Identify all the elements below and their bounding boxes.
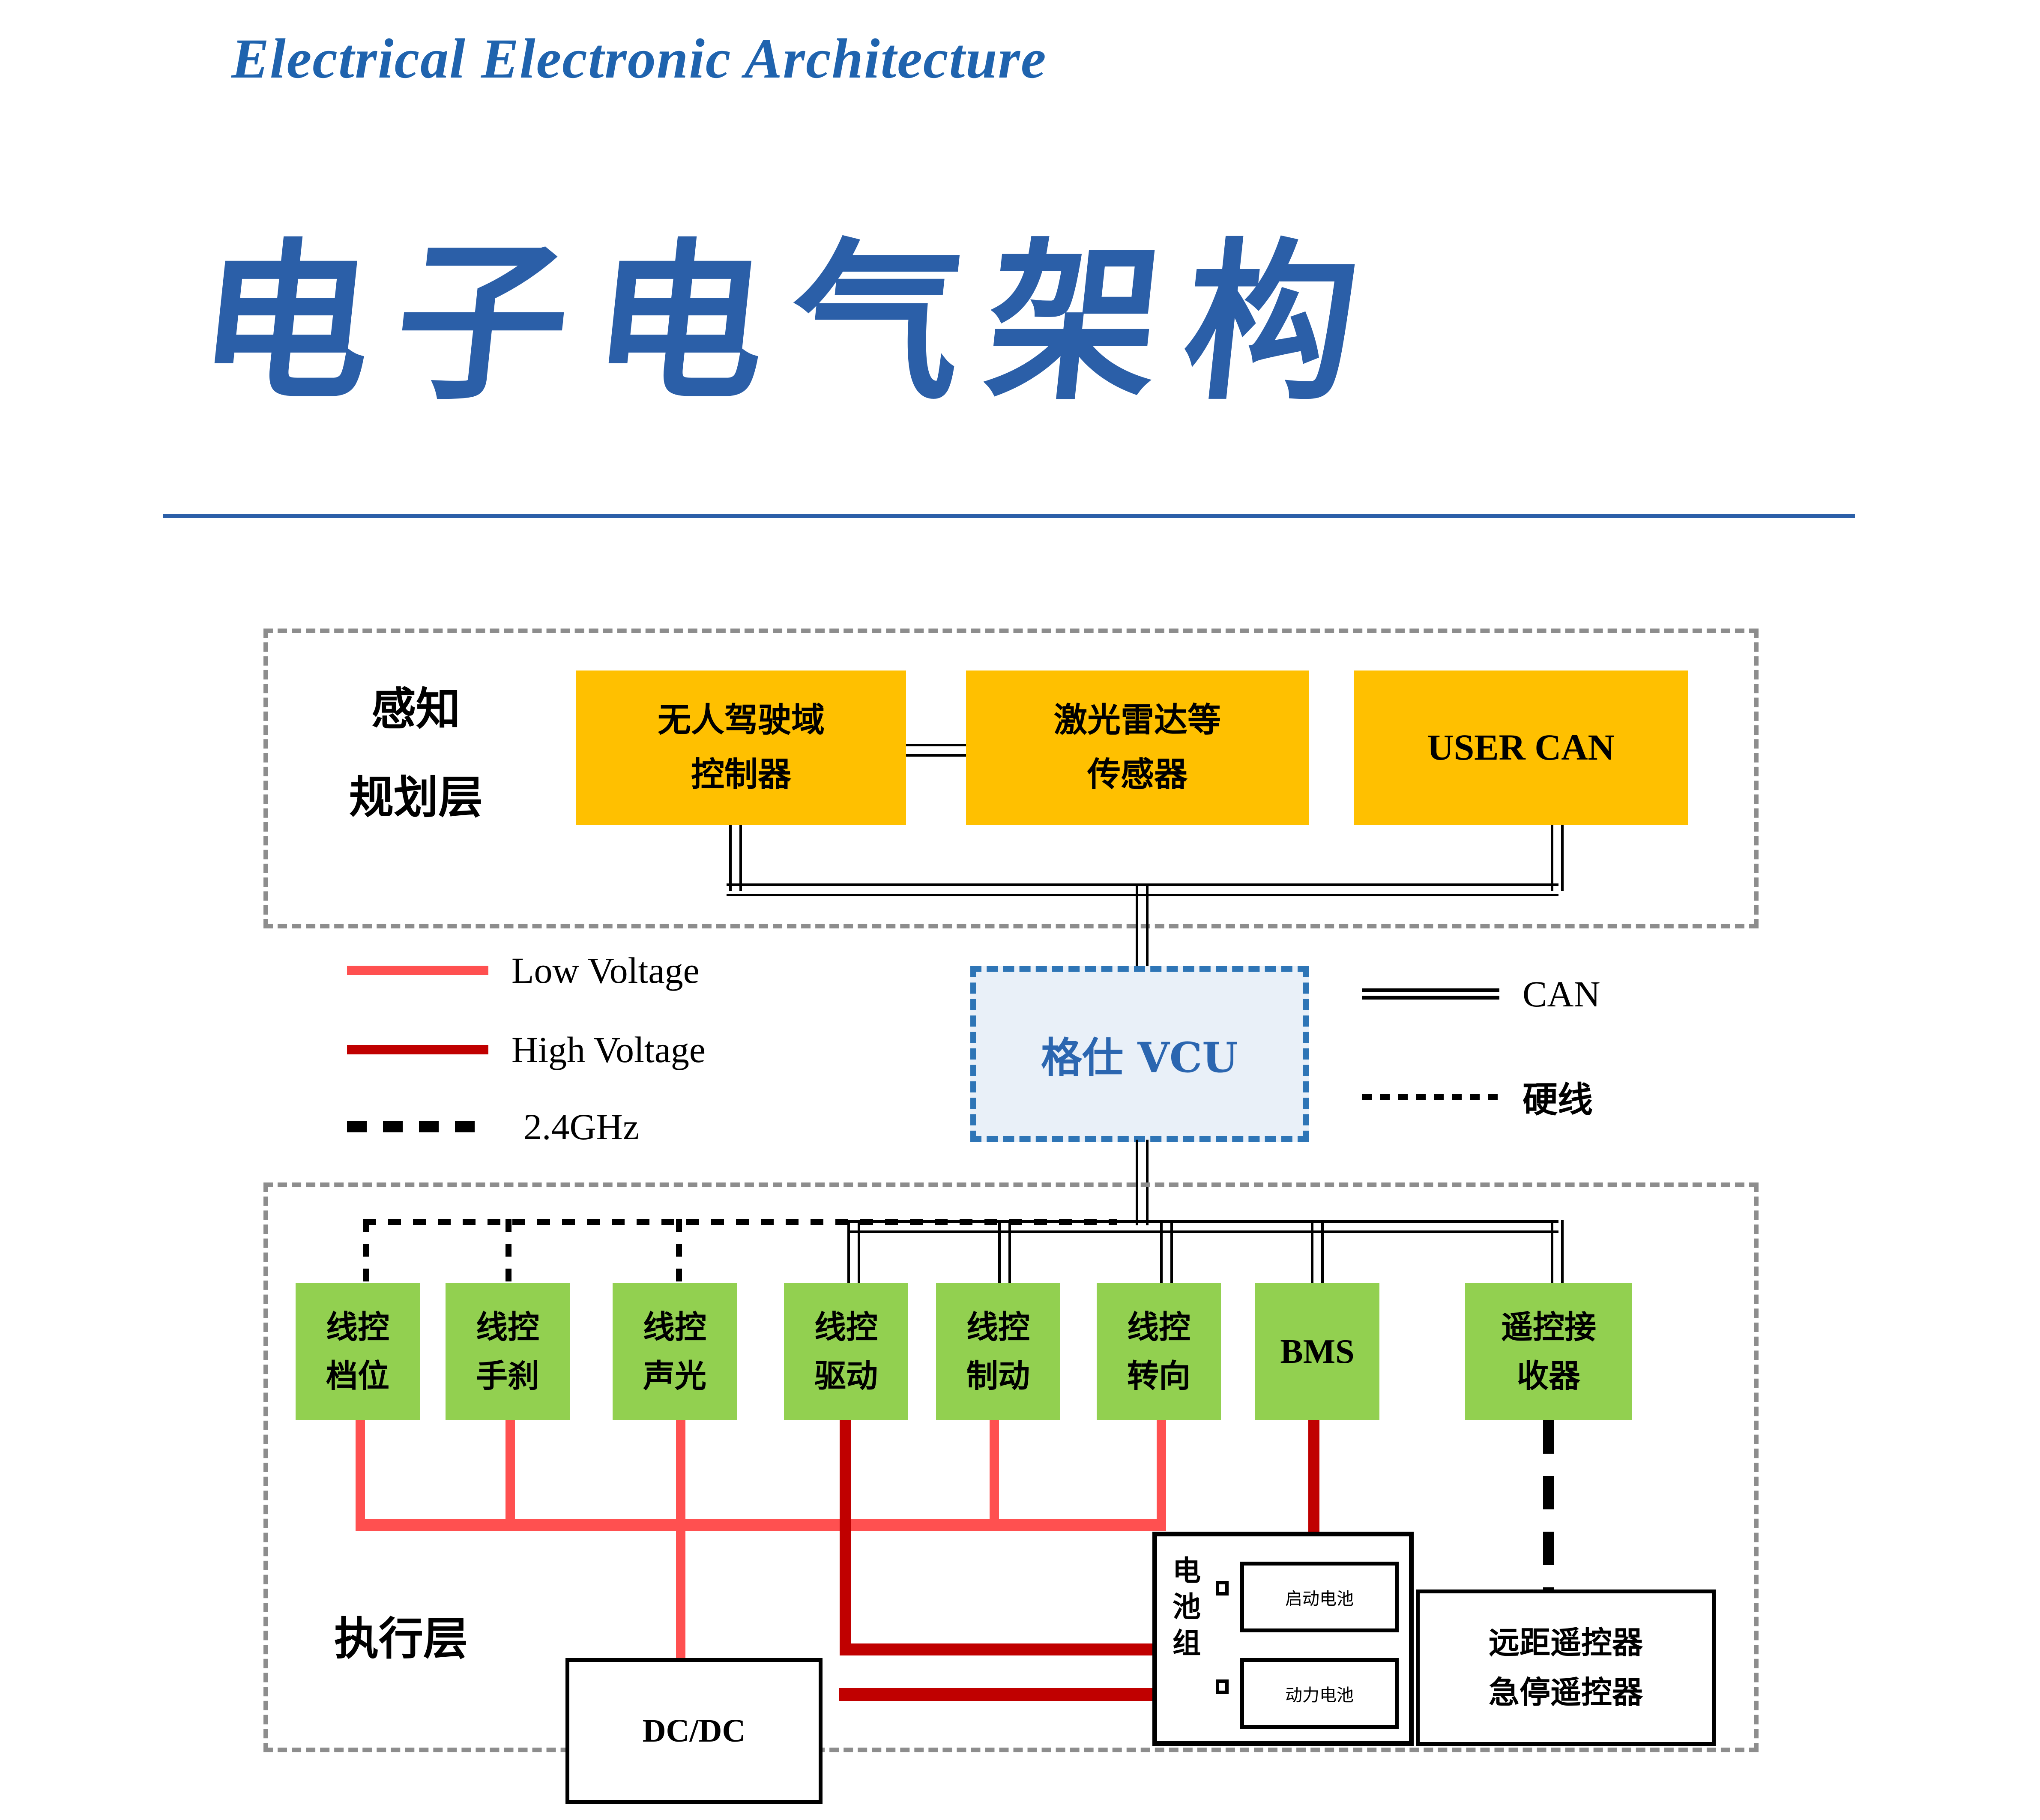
battery-terminal-icon-starter bbox=[1216, 1581, 1229, 1595]
hardwire-drop-handbrake bbox=[506, 1219, 511, 1285]
lv-drop-brake bbox=[990, 1420, 999, 1519]
node-wire-control-brake[interactable]: 线控 制动 bbox=[936, 1283, 1060, 1420]
steer-label-line1: 线控 bbox=[1127, 1307, 1190, 1348]
remote-label-line2: 急停遥控器 bbox=[1489, 1673, 1643, 1713]
adc-label-line2: 控制器 bbox=[691, 753, 791, 796]
legend-label-hardwire: 硬线 bbox=[1523, 1071, 1593, 1122]
rf-link-receiver-to-remote bbox=[1543, 1420, 1554, 1617]
lv-drop-handbrake bbox=[506, 1420, 515, 1519]
perception-caption-line2: 规划层 bbox=[349, 769, 483, 825]
lidar-label-line2: 传感器 bbox=[1087, 753, 1188, 796]
legend-label-can: CAN bbox=[1523, 973, 1600, 1015]
lv-bus bbox=[356, 1519, 1166, 1531]
node-remote-control-receiver[interactable]: 遥控接 收器 bbox=[1465, 1283, 1632, 1420]
node-wire-control-drive[interactable]: 线控 驱动 bbox=[784, 1283, 908, 1420]
can-drop-bms bbox=[1311, 1220, 1324, 1285]
rc-rx-label-line1: 遥控接 bbox=[1501, 1307, 1596, 1348]
node-user-can[interactable]: USER CAN bbox=[1354, 671, 1688, 825]
can-drop-usercan bbox=[1551, 825, 1564, 891]
brake-label-line1: 线控 bbox=[966, 1307, 1030, 1348]
perception-layer-caption: 感知 规划层 bbox=[349, 681, 483, 825]
legend-item-low-voltage: Low Voltage bbox=[347, 949, 700, 992]
can-drop-brake bbox=[998, 1220, 1011, 1285]
node-wire-control-light-sound[interactable]: 线控 声光 bbox=[613, 1283, 737, 1420]
legend-item-high-voltage: High Voltage bbox=[347, 1028, 706, 1071]
legend-item-24ghz: 2.4GHz bbox=[347, 1105, 639, 1148]
vcu-label: 格仕 VCU bbox=[1041, 1024, 1238, 1084]
perception-caption-line1: 感知 bbox=[349, 681, 483, 737]
can-drop-drive bbox=[847, 1220, 860, 1285]
can-drop-rc-rx bbox=[1551, 1220, 1564, 1285]
node-wire-control-steering[interactable]: 线控 转向 bbox=[1097, 1283, 1221, 1420]
gear-label-line1: 线控 bbox=[326, 1307, 389, 1348]
battery-cell-traction: 动力电池 bbox=[1240, 1658, 1399, 1729]
handbrake-label-line2: 手刹 bbox=[476, 1356, 539, 1397]
drive-label-line1: 线控 bbox=[814, 1307, 878, 1348]
traction-battery-label: 动力电池 bbox=[1285, 1681, 1354, 1706]
lv-feed-to-dcdc bbox=[676, 1519, 685, 1660]
legend-label-low-voltage: Low Voltage bbox=[511, 949, 700, 992]
node-remote-controllers[interactable]: 远距遥控器 急停遥控器 bbox=[1416, 1590, 1716, 1746]
can-trunk-to-vcu bbox=[1136, 883, 1149, 969]
battery-cell-starter: 启动电池 bbox=[1240, 1562, 1399, 1632]
hardwire-dashed-line-icon bbox=[1362, 1094, 1499, 1100]
legend-label-24ghz: 2.4GHz bbox=[523, 1105, 639, 1148]
page-title-english: Electrical Electronic Architecture bbox=[231, 26, 1047, 91]
hardwire-drop-gear bbox=[363, 1219, 369, 1285]
legend-item-hardwire: 硬线 bbox=[1362, 1071, 1593, 1122]
starter-battery-label: 启动电池 bbox=[1285, 1585, 1354, 1610]
battery-terminal-icon-traction bbox=[1216, 1679, 1229, 1694]
hardwire-drop-light bbox=[676, 1219, 682, 1285]
lv-drop-gear bbox=[356, 1420, 365, 1527]
legend-item-can: CAN bbox=[1362, 973, 1600, 1015]
remote-label-line1: 远距遥控器 bbox=[1489, 1623, 1643, 1663]
legend-label-high-voltage: High Voltage bbox=[511, 1028, 706, 1071]
bms-label: BMS bbox=[1280, 1329, 1354, 1374]
gear-label-line2: 档位 bbox=[326, 1356, 389, 1397]
hv-drive-to-battery bbox=[840, 1643, 1165, 1655]
handbrake-label-line1: 线控 bbox=[476, 1307, 539, 1348]
lidar-label-line1: 激光雷达等 bbox=[1054, 699, 1221, 742]
steer-label-line2: 转向 bbox=[1127, 1356, 1190, 1397]
light-label-line2: 声光 bbox=[643, 1356, 706, 1397]
hv-dcdc-to-battery bbox=[839, 1688, 1165, 1701]
node-bms[interactable]: BMS bbox=[1255, 1283, 1379, 1420]
user-can-label: USER CAN bbox=[1427, 724, 1614, 772]
brake-label-line2: 制动 bbox=[966, 1356, 1030, 1397]
can-link-adc-lidar bbox=[906, 744, 966, 757]
can-drop-adc bbox=[729, 825, 742, 891]
header-divider bbox=[163, 514, 1855, 518]
low-voltage-line-icon bbox=[347, 966, 488, 975]
hv-drop-drive bbox=[840, 1420, 851, 1654]
high-voltage-line-icon bbox=[347, 1045, 488, 1054]
page-title-chinese: 电子电气架构 bbox=[188, 184, 1397, 432]
node-dcdc[interactable]: DC/DC bbox=[565, 1658, 823, 1804]
node-autonomous-driving-domain-controller[interactable]: 无人驾驶域 控制器 bbox=[576, 671, 906, 825]
hv-bms-to-battery bbox=[1308, 1420, 1319, 1534]
lv-drop-light bbox=[676, 1420, 685, 1519]
node-lidar-sensors[interactable]: 激光雷达等 传感器 bbox=[966, 671, 1309, 825]
rc-rx-label-line2: 收器 bbox=[1517, 1356, 1580, 1397]
execution-layer-caption: 执行层 bbox=[334, 1611, 468, 1667]
can-drop-steer bbox=[1160, 1220, 1173, 1285]
dcdc-label: DC/DC bbox=[643, 1710, 746, 1752]
drive-label-line2: 驱动 bbox=[814, 1356, 878, 1397]
can-bus-execution bbox=[847, 1220, 1558, 1233]
node-vcu[interactable]: 格仕 VCU bbox=[970, 966, 1309, 1142]
lv-drop-steer bbox=[1157, 1420, 1166, 1519]
node-wire-control-handbrake[interactable]: 线控 手刹 bbox=[446, 1283, 570, 1420]
can-double-line-icon bbox=[1362, 988, 1499, 1000]
battery-pack-label: 电池组 bbox=[1167, 1553, 1206, 1661]
light-label-line1: 线控 bbox=[643, 1307, 706, 1348]
adc-label-line1: 无人驾驶域 bbox=[658, 699, 825, 742]
node-wire-control-gear[interactable]: 线控 档位 bbox=[296, 1283, 420, 1420]
rf-dashed-line-icon bbox=[347, 1121, 488, 1132]
